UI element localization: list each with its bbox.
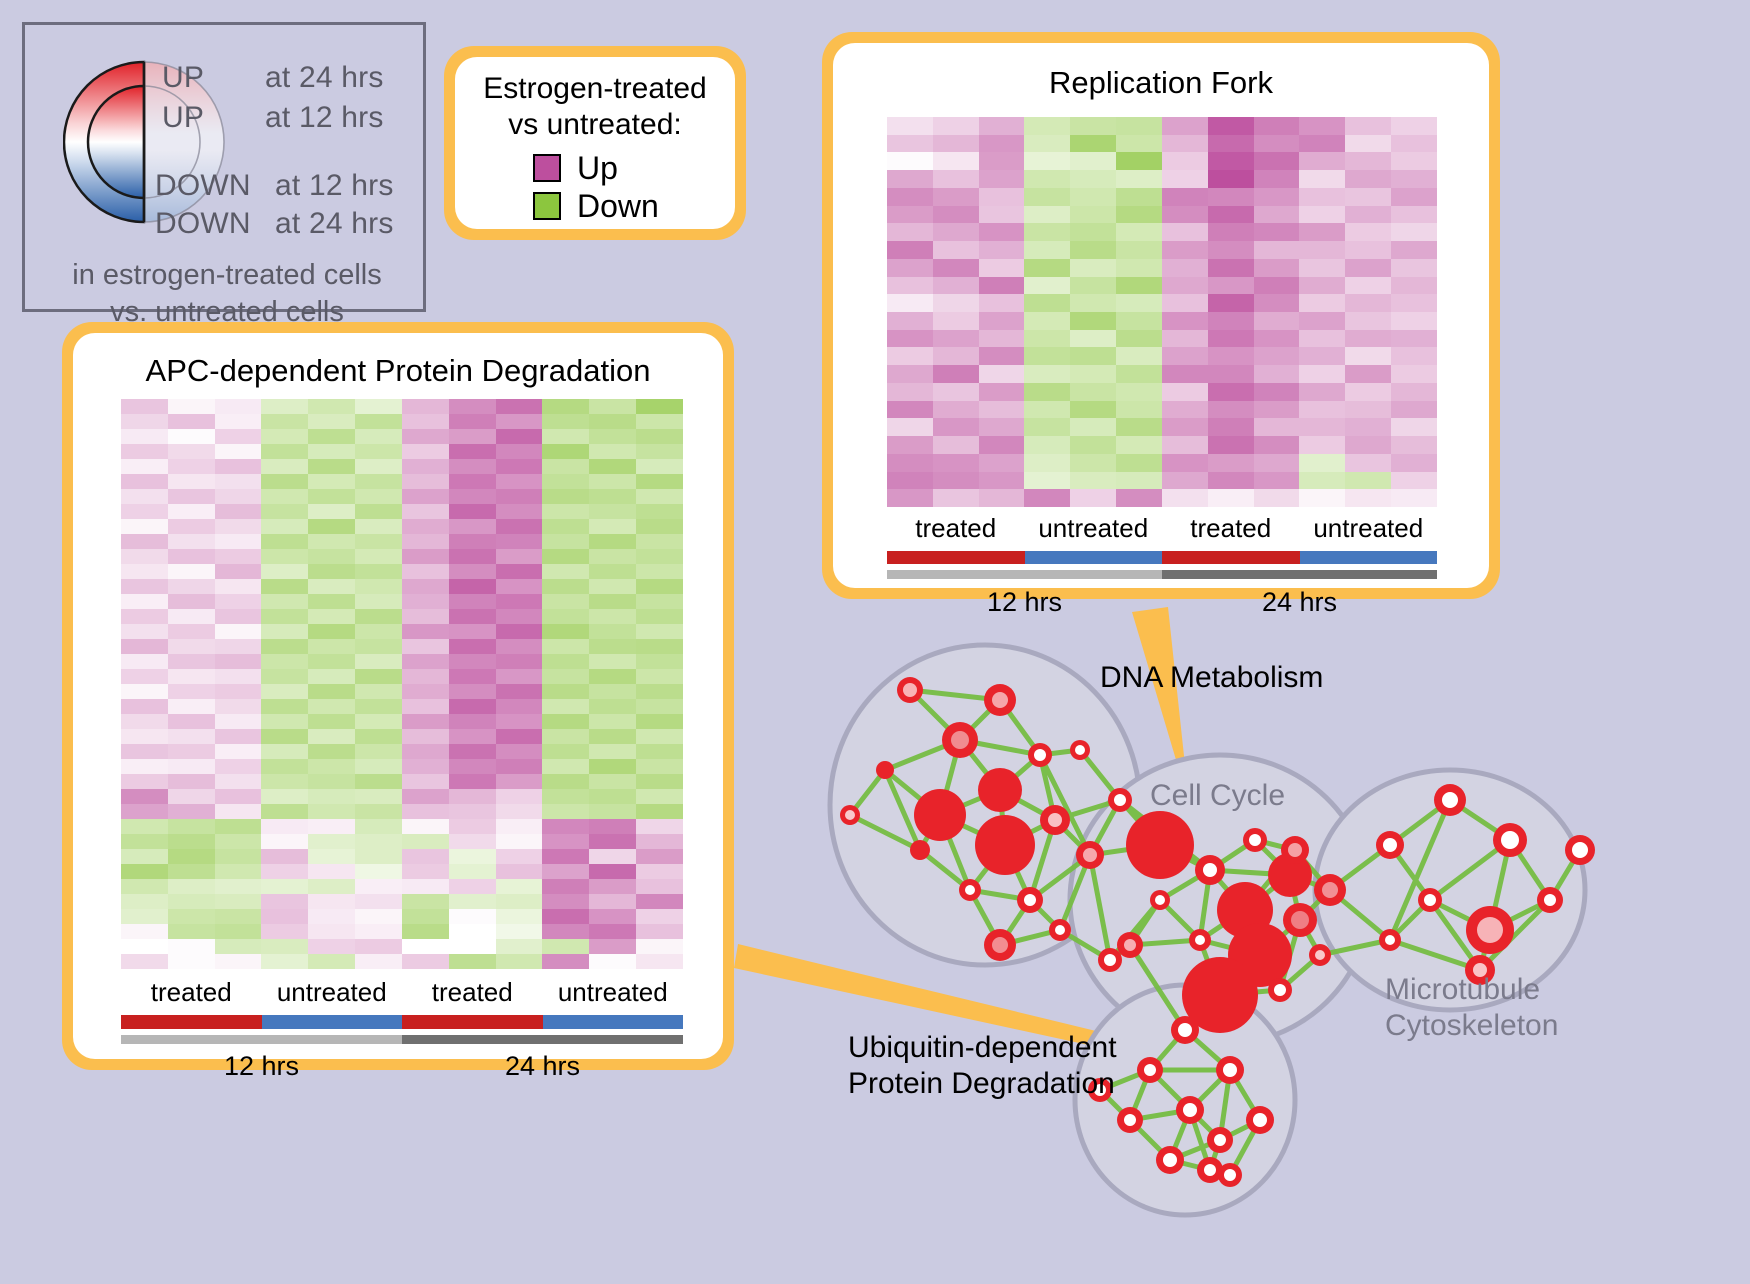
heatmap-cell: [168, 774, 215, 789]
heatmap-cell: [121, 714, 168, 729]
heatmap-cell: [261, 849, 308, 864]
bar-segment: [121, 1035, 402, 1044]
heatmap-cell: [1116, 383, 1162, 401]
heatmap-cell: [121, 879, 168, 894]
heatmap-cell: [261, 744, 308, 759]
heatmap-cell: [1345, 472, 1391, 490]
heatmap-cell: [121, 654, 168, 669]
sample-label: untreated: [1300, 513, 1438, 544]
heatmap-cell: [355, 909, 402, 924]
heatmap-cell: [1116, 241, 1162, 259]
heatmap-cell: [121, 804, 168, 819]
heatmap-cell: [1208, 401, 1254, 419]
heatmap-cell: [1208, 170, 1254, 188]
heatmap-cell: [1299, 223, 1345, 241]
heatmap-cell: [887, 454, 933, 472]
heatmap-cell: [979, 418, 1025, 436]
heatmap-cell: [1299, 152, 1345, 170]
heatmap-cell: [1162, 312, 1208, 330]
heatmap-cell: [496, 459, 543, 474]
heatmap-cell: [449, 789, 496, 804]
heatmap-cell: [121, 684, 168, 699]
heatmap-cell: [449, 639, 496, 654]
heatmap-cell: [1162, 277, 1208, 295]
heatmap-cell: [636, 879, 683, 894]
heatmap-cell: [496, 504, 543, 519]
heatmap-cell: [1391, 436, 1437, 454]
heatmap-cell: [887, 489, 933, 507]
heatmap-cell: [168, 924, 215, 939]
heatmap-cell: [449, 864, 496, 879]
heatmap-cell: [215, 399, 262, 414]
heatmap-cell: [589, 414, 636, 429]
heatmap-cell: [887, 277, 933, 295]
bar-segment: [1025, 551, 1163, 564]
heatmap-cell: [542, 444, 589, 459]
heatmap-cell: [1024, 117, 1070, 135]
heatmap-cell: [121, 819, 168, 834]
heatmap-cell: [1345, 436, 1391, 454]
legend-label-up: Up: [577, 152, 618, 184]
heatmap-cell: [887, 223, 933, 241]
heatmap-cell: [308, 534, 355, 549]
heatmap-cell: [496, 834, 543, 849]
heatmap-cell: [589, 444, 636, 459]
apc-degradation-title: APC-dependent Protein Degradation: [73, 353, 723, 389]
heatmap-cell: [1208, 294, 1254, 312]
heatmap-cell: [636, 564, 683, 579]
heatmap-cell: [1345, 383, 1391, 401]
heatmap-cell: [355, 714, 402, 729]
heatmap-cell: [402, 429, 449, 444]
heatmap-cell: [636, 684, 683, 699]
heatmap-cell: [636, 444, 683, 459]
time-label: 24 hrs: [402, 1051, 683, 1082]
heatmap-cell: [168, 759, 215, 774]
sample-label: treated: [402, 977, 543, 1008]
heatmap-cell: [1299, 135, 1345, 153]
heatmap-cell: [449, 909, 496, 924]
heatmap-cell: [215, 774, 262, 789]
heatmap-cell: [1208, 206, 1254, 224]
heatmap-cell: [449, 654, 496, 669]
heatmap-cell: [1070, 170, 1116, 188]
heatmap-cell: [542, 594, 589, 609]
heatmap-cell: [1070, 365, 1116, 383]
heatmap-cell: [261, 834, 308, 849]
down-color-swatch: [533, 192, 561, 220]
heatmap-cell: [402, 459, 449, 474]
apc-treatment-bar: [121, 1015, 683, 1029]
heatmap-cell: [1391, 294, 1437, 312]
heatmap-cell: [1208, 223, 1254, 241]
heatmap-cell: [308, 489, 355, 504]
heatmap-cell: [496, 564, 543, 579]
heatmap-cell: [215, 924, 262, 939]
heatmap-cell: [589, 639, 636, 654]
heatmap-cell: [402, 699, 449, 714]
heatmap-cell: [121, 849, 168, 864]
heatmap-cell: [1254, 223, 1300, 241]
heatmap-cell: [1391, 241, 1437, 259]
apc-time-bar: [121, 1035, 683, 1044]
heatmap-cell: [215, 519, 262, 534]
heatmap-cell: [261, 669, 308, 684]
heatmap-cell: [449, 564, 496, 579]
heatmap-cell: [1345, 188, 1391, 206]
heatmap-cell: [308, 504, 355, 519]
heatmap-cell: [636, 909, 683, 924]
heatmap-cell: [308, 549, 355, 564]
heatmap-cell: [1254, 347, 1300, 365]
heatmap-cell: [1024, 383, 1070, 401]
heatmap-cell: [402, 954, 449, 969]
heatmap-cell: [1208, 365, 1254, 383]
heatmap-cell: [933, 454, 979, 472]
heatmap-cell: [261, 699, 308, 714]
heatmap-cell: [542, 819, 589, 834]
heatmap-cell: [449, 744, 496, 759]
heatmap-cell: [1254, 294, 1300, 312]
heatmap-cell: [402, 879, 449, 894]
heatmap-cell: [1208, 454, 1254, 472]
heatmap-cell: [1254, 489, 1300, 507]
heatmap-cell: [1024, 135, 1070, 153]
pathway-network-graph: DNA Metabolism Cell Cycle Microtubule Cy…: [790, 600, 1740, 1279]
heatmap-cell: [121, 669, 168, 684]
heatmap-cell: [121, 939, 168, 954]
heatmap-cell: [1345, 117, 1391, 135]
heatmap-cell: [542, 609, 589, 624]
heatmap-cell: [542, 789, 589, 804]
heatmap-cell: [636, 489, 683, 504]
heatmap-cell: [308, 414, 355, 429]
heatmap-cell: [496, 534, 543, 549]
heatmap-cell: [355, 669, 402, 684]
heatmap-cell: [979, 454, 1025, 472]
heatmap-cell: [215, 879, 262, 894]
heatmap-cell: [355, 474, 402, 489]
heatmap-cell: [308, 639, 355, 654]
heatmap-cell: [449, 774, 496, 789]
heatmap-cell: [496, 474, 543, 489]
heatmap-cell: [1208, 436, 1254, 454]
heatmap-cell: [261, 924, 308, 939]
heatmap-cell: [1208, 259, 1254, 277]
heatmap-cell: [121, 444, 168, 459]
heatmap-cell: [1070, 418, 1116, 436]
heatmap-cell: [355, 594, 402, 609]
heatmap-cell: [979, 294, 1025, 312]
heatmap-cell: [355, 939, 402, 954]
heatmap-cell: [168, 894, 215, 909]
heatmap-cell: [1162, 241, 1208, 259]
heatmap-cell: [355, 849, 402, 864]
sample-label: treated: [887, 513, 1025, 544]
legend-label-down: Down: [577, 190, 659, 222]
heatmap-cell: [261, 879, 308, 894]
heatmap-cell: [1024, 241, 1070, 259]
heatmap-cell: [496, 549, 543, 564]
heatmap-cell: [168, 744, 215, 759]
heatmap-cell: [1299, 472, 1345, 490]
heatmap-cell: [449, 759, 496, 774]
heatmap-cell: [121, 549, 168, 564]
heatmap-cell: [261, 564, 308, 579]
heatmap-cell: [261, 894, 308, 909]
heatmap-cell: [308, 744, 355, 759]
color-key-box: UP at 24 hrs UP at 12 hrs DOWN at 12 hrs…: [22, 22, 426, 312]
heatmap-cell: [402, 624, 449, 639]
heatmap-cell: [496, 939, 543, 954]
heatmap-cell: [168, 864, 215, 879]
heatmap-cell: [979, 347, 1025, 365]
heatmap-cell: [589, 609, 636, 624]
heatmap-cell: [308, 849, 355, 864]
heatmap-cell: [589, 699, 636, 714]
network-svg: [790, 600, 1740, 1279]
heatmap-cell: [1299, 330, 1345, 348]
heatmap-cell: [308, 654, 355, 669]
heatmap-cell: [355, 609, 402, 624]
heatmap-cell: [215, 909, 262, 924]
heatmap-cell: [979, 259, 1025, 277]
heatmap-cell: [1116, 347, 1162, 365]
heatmap-cell: [1024, 418, 1070, 436]
heatmap-cell: [979, 170, 1025, 188]
heatmap-cell: [636, 459, 683, 474]
heatmap-cell: [215, 789, 262, 804]
heatmap-cell: [1345, 418, 1391, 436]
bar-segment: [1162, 570, 1437, 579]
key-label-up-12: UP: [162, 101, 204, 135]
heatmap-cell: [887, 330, 933, 348]
heatmap-cell: [496, 654, 543, 669]
heatmap-cell: [215, 684, 262, 699]
heatmap-cell: [1391, 312, 1437, 330]
heatmap-cell: [887, 259, 933, 277]
heatmap-cell: [402, 594, 449, 609]
heatmap-cell: [1345, 135, 1391, 153]
heatmap-cell: [1162, 472, 1208, 490]
heatmap-cell: [887, 347, 933, 365]
heatmap-cell: [1162, 294, 1208, 312]
heatmap-cell: [355, 954, 402, 969]
heatmap-cell: [308, 579, 355, 594]
heatmap-cell: [121, 924, 168, 939]
heatmap-cell: [121, 954, 168, 969]
heatmap-cell: [933, 489, 979, 507]
heatmap-cell: [1254, 259, 1300, 277]
apc-sample-labels: treated untreated treated untreated: [121, 977, 683, 1008]
heatmap-cell: [261, 624, 308, 639]
heatmap-cell: [496, 729, 543, 744]
heatmap-cell: [449, 669, 496, 684]
heatmap-cell: [308, 909, 355, 924]
heatmap-cell: [1254, 401, 1300, 419]
heatmap-cell: [636, 579, 683, 594]
bar-segment: [121, 1015, 262, 1029]
heatmap-cell: [1391, 170, 1437, 188]
heatmap-cell: [542, 489, 589, 504]
heatmap-cell: [1070, 312, 1116, 330]
heatmap-cell: [1162, 365, 1208, 383]
heatmap-cell: [589, 594, 636, 609]
heatmap-cell: [1116, 259, 1162, 277]
heatmap-cell: [636, 729, 683, 744]
heatmap-cell: [887, 135, 933, 153]
heatmap-cell: [215, 759, 262, 774]
heatmap-cell: [979, 188, 1025, 206]
heatmap-cell: [1391, 347, 1437, 365]
replication-fork-sample-labels: treated untreated treated untreated: [887, 513, 1437, 544]
heatmap-cell: [355, 564, 402, 579]
heatmap-cell: [496, 444, 543, 459]
heatmap-cell: [308, 924, 355, 939]
heatmap-cell: [308, 714, 355, 729]
heatmap-cell: [933, 259, 979, 277]
heatmap-cell: [933, 365, 979, 383]
heatmap-cell: [168, 909, 215, 924]
heatmap-cell: [168, 474, 215, 489]
cluster-label-dna-metabolism: DNA Metabolism: [1100, 660, 1323, 696]
heatmap-cell: [979, 117, 1025, 135]
heatmap-cell: [636, 804, 683, 819]
heatmap-cell: [168, 624, 215, 639]
heatmap-cell: [355, 489, 402, 504]
heatmap-cell: [402, 639, 449, 654]
legend-item-up: Up: [533, 149, 717, 187]
heatmap-cell: [1254, 135, 1300, 153]
heatmap-cell: [308, 804, 355, 819]
heatmap-cell: [589, 564, 636, 579]
heatmap-cell: [355, 519, 402, 534]
heatmap-cell: [121, 504, 168, 519]
heatmap-cell: [1162, 117, 1208, 135]
heatmap-cell: [1162, 436, 1208, 454]
heatmap-cell: [1391, 259, 1437, 277]
heatmap-cell: [261, 444, 308, 459]
heatmap-cell: [215, 819, 262, 834]
heatmap-cell: [215, 414, 262, 429]
heatmap-cell: [449, 729, 496, 744]
heatmap-cell: [355, 444, 402, 459]
heatmap-cell: [1116, 330, 1162, 348]
heatmap-cell: [542, 924, 589, 939]
heatmap-cell: [308, 474, 355, 489]
heatmap-cell: [1299, 188, 1345, 206]
heatmap-cell: [887, 365, 933, 383]
heatmap-cell: [979, 489, 1025, 507]
heatmap-cell: [979, 206, 1025, 224]
heatmap-cell: [402, 744, 449, 759]
heatmap-cell: [449, 414, 496, 429]
heatmap-cell: [355, 624, 402, 639]
heatmap-cell: [308, 444, 355, 459]
heatmap-cell: [121, 774, 168, 789]
heatmap-cell: [496, 594, 543, 609]
heatmap-cell: [636, 399, 683, 414]
heatmap-cell: [1208, 383, 1254, 401]
heatmap-cell: [496, 669, 543, 684]
heatmap-cell: [402, 549, 449, 564]
heatmap-cell: [1391, 472, 1437, 490]
heatmap-cell: [933, 436, 979, 454]
heatmap-cell: [308, 399, 355, 414]
heatmap-cell: [402, 669, 449, 684]
heatmap-cell: [589, 789, 636, 804]
replication-fork-treatment-bar: [887, 551, 1437, 564]
heatmap-cell: [542, 504, 589, 519]
heatmap-cell: [168, 939, 215, 954]
heatmap-cell: [887, 418, 933, 436]
heatmap-cell: [215, 804, 262, 819]
time-label: 12 hrs: [121, 1051, 402, 1082]
heatmap-cell: [261, 594, 308, 609]
heatmap-cell: [542, 624, 589, 639]
heatmap-cell: [1345, 152, 1391, 170]
heatmap-cell: [168, 654, 215, 669]
heatmap-cell: [215, 729, 262, 744]
heatmap-cell: [168, 504, 215, 519]
heatmap-cell: [1116, 365, 1162, 383]
heatmap-cell: [1299, 347, 1345, 365]
heatmap-cell: [1162, 330, 1208, 348]
heatmap-cell: [261, 684, 308, 699]
heatmap-cell: [1299, 418, 1345, 436]
sample-label: treated: [121, 977, 262, 1008]
heatmap-cell: [1391, 206, 1437, 224]
heatmap-cell: [1345, 454, 1391, 472]
heatmap-cell: [589, 714, 636, 729]
heatmap-cell: [355, 459, 402, 474]
heatmap-cell: [1070, 206, 1116, 224]
heatmap-cell: [1024, 454, 1070, 472]
heatmap-cell: [636, 654, 683, 669]
heatmap-cell: [496, 774, 543, 789]
heatmap-cell: [449, 594, 496, 609]
heatmap-cell: [1116, 454, 1162, 472]
heatmap-cell: [1254, 312, 1300, 330]
heatmap-cell: [355, 834, 402, 849]
heatmap-cell: [1299, 436, 1345, 454]
heatmap-cell: [887, 312, 933, 330]
heatmap-cell: [542, 714, 589, 729]
heatmap-cell: [542, 879, 589, 894]
heatmap-cell: [496, 909, 543, 924]
heatmap-cell: [933, 206, 979, 224]
heatmap-cell: [449, 804, 496, 819]
heatmap-cell: [542, 459, 589, 474]
heatmap-cell: [121, 399, 168, 414]
heatmap-cell: [1162, 347, 1208, 365]
heatmap-cell: [1024, 188, 1070, 206]
heatmap-cell: [402, 504, 449, 519]
heatmap-cell: [542, 519, 589, 534]
heatmap-cell: [496, 429, 543, 444]
key-label-down-24: DOWN: [155, 207, 251, 241]
heatmap-cell: [887, 206, 933, 224]
heatmap-cell: [496, 579, 543, 594]
heatmap-cell: [542, 684, 589, 699]
heatmap-cell: [355, 549, 402, 564]
heatmap-cell: [1116, 206, 1162, 224]
heatmap-cell: [215, 864, 262, 879]
heatmap-cell: [979, 330, 1025, 348]
heatmap-cell: [168, 459, 215, 474]
heatmap-cell: [308, 894, 355, 909]
heatmap-cell: [402, 804, 449, 819]
